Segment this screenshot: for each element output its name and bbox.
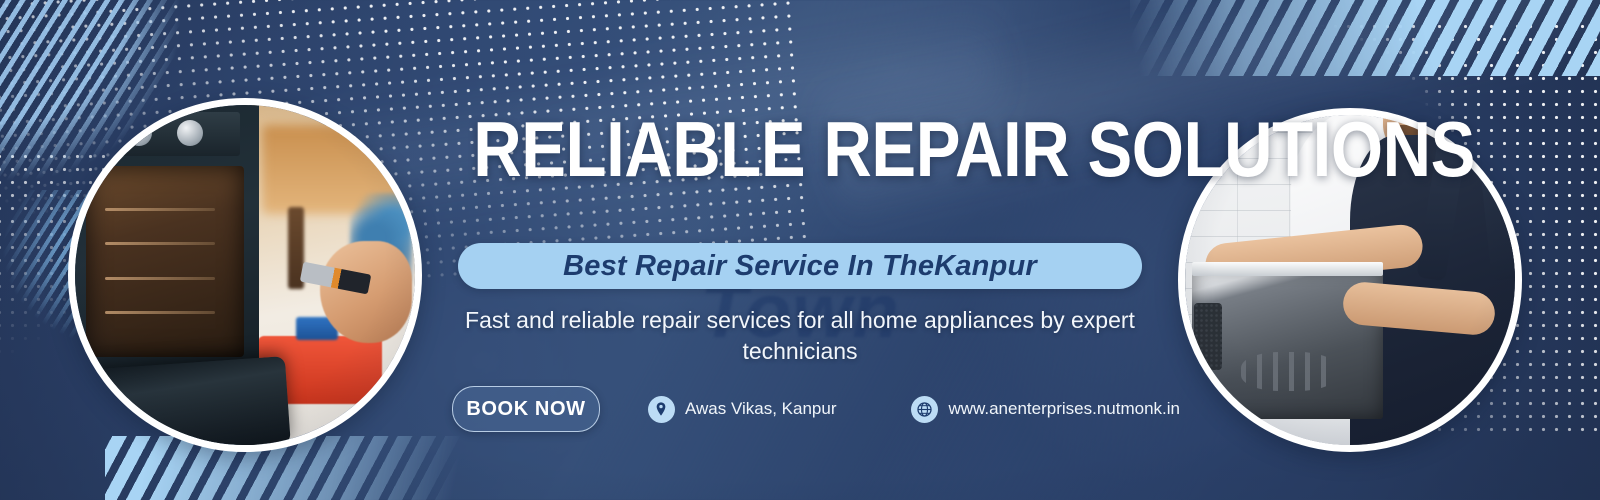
website-text: www.anenterprises.nutmonk.in xyxy=(948,399,1180,419)
banner-footer: BOOK NOW Awas Vikas, Kanpur xyxy=(452,386,1180,432)
location-pin-icon xyxy=(648,396,675,423)
repair-service-banner: Town RELIABLE REPAIR SOLUTIONS Best Repa… xyxy=(0,0,1600,500)
tagline-pill: Best Repair Service In TheKanpur xyxy=(458,243,1142,289)
tagline-text: Best Repair Service In TheKanpur xyxy=(563,250,1037,283)
left-photo-circle xyxy=(68,98,422,452)
page-title: RELIABLE REPAIR SOLUTIONS xyxy=(473,112,1127,186)
globe-icon xyxy=(911,396,938,423)
stripe-pattern-top-right xyxy=(1130,0,1600,76)
oven-repair-photo xyxy=(75,105,415,445)
banner-content: Town RELIABLE REPAIR SOLUTIONS Best Repa… xyxy=(420,0,1180,500)
left-photo-shade xyxy=(75,105,415,445)
website-info[interactable]: www.anenterprises.nutmonk.in xyxy=(911,396,1180,423)
book-now-button[interactable]: BOOK NOW xyxy=(452,386,600,432)
location-info[interactable]: Awas Vikas, Kanpur xyxy=(648,396,837,423)
description-text: Fast and reliable repair services for al… xyxy=(430,305,1170,367)
location-text: Awas Vikas, Kanpur xyxy=(685,399,837,419)
